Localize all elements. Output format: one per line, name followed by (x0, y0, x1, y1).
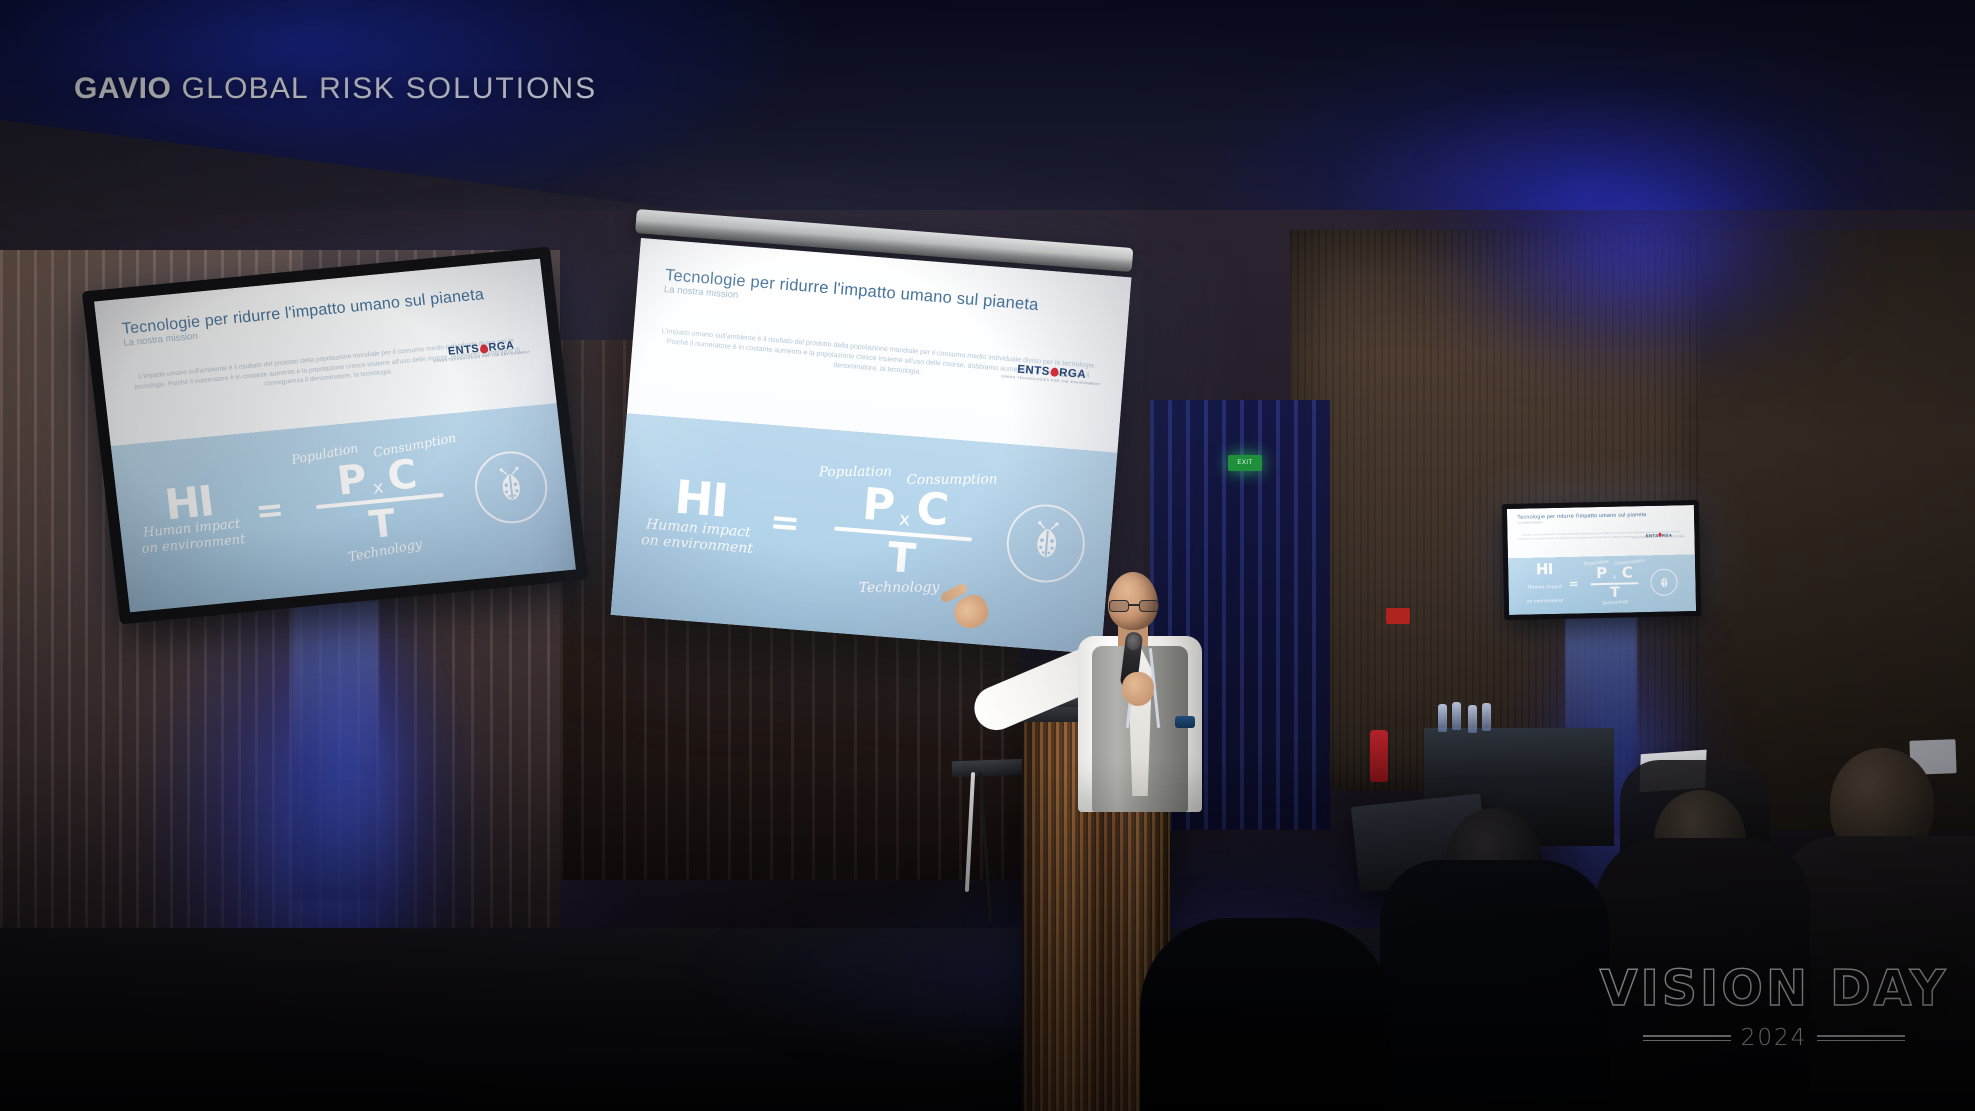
brand-part-global: GLOBAL (182, 74, 309, 104)
rule-right (1817, 1035, 1905, 1041)
term-population: P (861, 482, 897, 528)
center-projection-screen[interactable]: Tecnologie per ridurre l'impatto umano s… (611, 238, 1132, 654)
bottle (1468, 705, 1477, 733)
brand-part-io: IO (139, 74, 172, 104)
audience-member (1140, 918, 1390, 1111)
entsorga-tagline: GREEN TECHNOLOGIES FOR THE ENVIRONMENT (1632, 537, 1686, 539)
label-consumption: Consumption (906, 472, 997, 489)
bottle (1482, 703, 1491, 731)
term-population: P (335, 459, 369, 502)
slide-body-text: L'impatto umano sull'ambiente è il risul… (659, 327, 1098, 392)
label-population: Population (819, 464, 892, 481)
operator-times: x (899, 508, 911, 530)
exit-sign: EXIT (1228, 455, 1262, 471)
equation-equals: = (768, 501, 801, 544)
ladybug-glyph (488, 465, 535, 511)
ladybug-glyph (1022, 519, 1071, 568)
equation-equals: = (253, 490, 286, 532)
audience-member (1380, 860, 1610, 1111)
speaker-mic-hand (1122, 672, 1154, 706)
speaker-watch (1175, 716, 1195, 728)
brand-part-risk: RISK (319, 74, 395, 104)
slide-header: Tecnologie per ridurre l'impatto umano s… (1517, 513, 1685, 526)
brand-part-solutions: SOLUTIONS (406, 74, 597, 104)
operator-times: x (1613, 574, 1617, 581)
equation: HI Human impact on environment = Populat… (611, 404, 1118, 654)
term-population: P (1596, 566, 1607, 581)
equation-result: HI Human impact on environment (1526, 563, 1564, 606)
event-year: 2024 (1741, 1025, 1808, 1051)
event-title: VISION DAY (1600, 964, 1949, 1013)
equation-numerator: P x C (1584, 565, 1645, 581)
brand-part-gav: GAV (74, 74, 139, 104)
bottle (1452, 702, 1461, 730)
glasses-icon (1108, 600, 1160, 613)
ladybug-icon (1650, 568, 1678, 596)
fire-extinguisher (1370, 730, 1388, 782)
equation-equals: = (1568, 577, 1578, 591)
rule-left (1643, 1035, 1731, 1041)
podium-shelf (952, 759, 1031, 778)
exit-sign-label: EXIT (1237, 460, 1252, 466)
slide-header: Tecnologie per ridurre l'impatto umano s… (664, 267, 1105, 331)
event-year-row: 2024 (1643, 1025, 1905, 1051)
door-sign (1386, 608, 1410, 624)
left-wall-tv[interactable]: Tecnologie per ridurre l'impatto umano s… (82, 247, 588, 625)
glasses-bridge (1129, 604, 1139, 606)
equation: HI Human impact on environment = Populat… (1508, 552, 1696, 615)
gavio-brand-logo: GAV IO GLOBAL RISK SOLUTIONS (74, 74, 597, 104)
entsorga-logo: ENTS RGA GREEN TECHNOLOGIES FOR THE ENVI… (1632, 532, 1686, 539)
conference-photo-scene: Tecnologie per ridurre l'impatto umano s… (0, 0, 1975, 1111)
equation-fraction: Population Consumption P x C T Technolog… (1584, 560, 1646, 606)
bottle (1438, 704, 1447, 732)
equation-result-caption: Human impact on environment (1527, 585, 1564, 605)
equation-result: HI Human impact on environment (135, 479, 246, 558)
term-consumption: C (915, 487, 951, 533)
entsorga-leaf-icon (479, 344, 488, 354)
equation-result: HI Human impact on environment (641, 475, 758, 557)
equation-fraction: Population Consumption P x C T Technolog… (291, 434, 469, 567)
equation-result-symbol: HI (1526, 563, 1563, 577)
ladybug-glyph (1656, 574, 1672, 590)
ladybug-icon (471, 448, 551, 526)
term-consumption: C (1622, 566, 1633, 581)
equation-fraction: Population Consumption P x C T Technolog… (810, 461, 998, 603)
term-consumption: C (385, 454, 419, 497)
operator-times: x (372, 477, 384, 498)
glasses-lens-left (1109, 600, 1129, 612)
vision-day-logo: VISION DAY 2024 (1643, 964, 1905, 1051)
left-display-stand (292, 600, 378, 900)
ladybug-icon (1004, 502, 1088, 586)
slide-center: Tecnologie per ridurre l'impatto umano s… (611, 238, 1132, 654)
entsorga-leaf-icon (1050, 367, 1059, 377)
glasses-lens-right (1139, 600, 1159, 612)
equation: HI Human impact on environment = Populat… (110, 395, 576, 612)
slide-left: Tecnologie per ridurre l'impatto umano s… (94, 259, 576, 613)
right-wall-tv[interactable]: Tecnologie per ridurre l'impatto umano s… (1502, 500, 1701, 620)
slide-header: Tecnologie per ridurre l'impatto umano s… (121, 282, 523, 348)
slide-right: Tecnologie per ridurre l'impatto umano s… (1507, 505, 1696, 615)
